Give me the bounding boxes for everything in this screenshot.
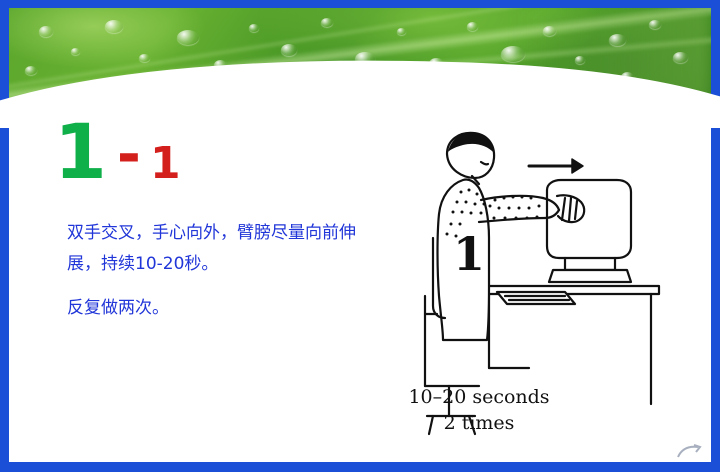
content-area: 1 - 1 双手交叉，手心向外，臂膀尽量向前伸展，持续10-20秒。 反复做两次… [9, 100, 711, 462]
frame-left-border [0, 0, 9, 472]
water-droplet [397, 28, 406, 35]
instruction-text: 双手交叉，手心向外，臂膀尽量向前伸展，持续10-20秒。 反复做两次。 [67, 218, 357, 324]
water-droplet [161, 74, 170, 81]
water-droplet [139, 54, 150, 62]
water-droplet [214, 60, 227, 70]
caption-line-1: 10–20 seconds [329, 385, 629, 411]
water-droplet [621, 72, 634, 82]
section-numbering: 1 - 1 [54, 114, 181, 190]
water-droplet [281, 44, 297, 56]
water-droplet [673, 52, 688, 63]
water-droplet [309, 76, 320, 84]
instruction-paragraph-2: 反复做两次。 [67, 293, 357, 324]
leaf-photo-banner [9, 8, 711, 100]
frame-top-border [0, 0, 720, 8]
water-droplet [71, 48, 80, 55]
water-droplet [321, 18, 333, 27]
water-droplet [177, 30, 199, 45]
corner-decoration-icon [676, 444, 702, 460]
water-droplet [25, 66, 37, 75]
water-droplet [501, 46, 525, 62]
water-droplet [39, 26, 53, 37]
slide: 1 - 1 双手交叉，手心向外，臂膀尽量向前伸展，持续10-20秒。 反复做两次… [0, 0, 720, 472]
frame-bottom-border [0, 462, 720, 472]
instruction-paragraph-1: 双手交叉，手心向外，臂膀尽量向前伸展，持续10-20秒。 [67, 218, 357, 281]
item-number: 1 [150, 142, 181, 186]
water-droplet [105, 20, 123, 33]
water-droplet [543, 26, 556, 36]
illustration-caption: 10–20 seconds 2 times [329, 385, 629, 436]
water-droplet [649, 20, 661, 29]
water-droplet [575, 56, 585, 64]
water-droplet [457, 78, 467, 86]
caption-line-2: 2 times [329, 411, 629, 437]
frame-right-border [711, 0, 720, 472]
water-droplet [249, 24, 259, 32]
illustration-badge-number: 1 [453, 227, 485, 281]
water-droplet [429, 58, 444, 69]
chapter-number: 1 [54, 114, 105, 190]
water-droplet [609, 34, 626, 46]
number-separator: - [117, 125, 141, 183]
water-droplet [355, 52, 375, 66]
water-droplet [467, 22, 478, 31]
